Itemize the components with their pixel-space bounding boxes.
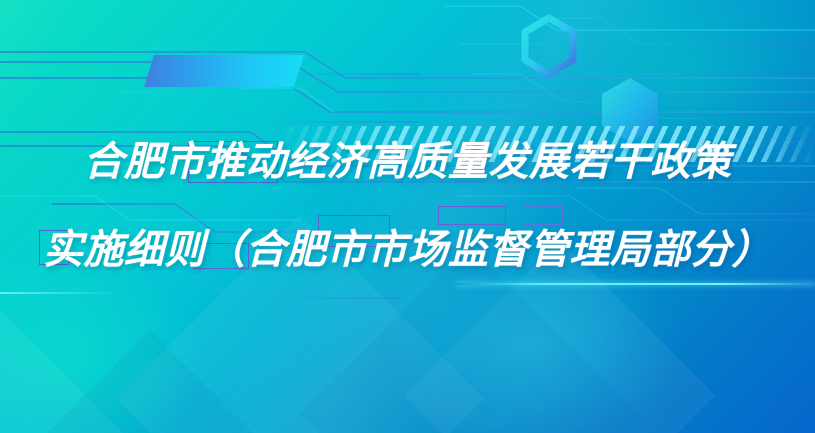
banner-title-line-2: 实施细则（合肥市市场监督管理局部分）	[0, 226, 815, 274]
banner-root: 合肥市推动经济高质量发展若干政策 实施细则（合肥市市场监督管理局部分）	[0, 0, 815, 433]
banner-title-line-1: 合肥市推动经济高质量发展若干政策	[0, 138, 815, 186]
title-block: 合肥市推动经济高质量发展若干政策 实施细则（合肥市市场监督管理局部分）	[0, 0, 815, 433]
